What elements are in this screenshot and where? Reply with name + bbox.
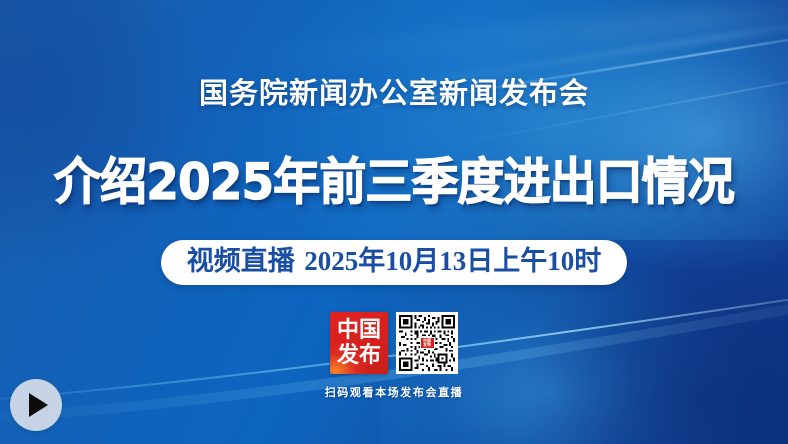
play-button[interactable] xyxy=(10,379,62,431)
qr-code-icon[interactable]: 中国 发布 xyxy=(396,312,458,374)
badge-label: 视频直播 xyxy=(187,246,304,277)
play-triangle-icon xyxy=(29,393,48,417)
logo-text-line1: 中国 xyxy=(337,319,381,342)
china-release-logo: 中国 发布 xyxy=(330,312,388,374)
qr-center-line2: 发布 xyxy=(423,343,431,347)
qr-center-logo: 中国 发布 xyxy=(420,337,435,349)
live-stream-poster: 国务院新闻办公室新闻发布会 介绍2025年前三季度进出口情况 视频直播 2025… xyxy=(0,0,788,444)
qr-caption: 扫码观看本场发布会直播 xyxy=(0,384,788,400)
press-conference-subtitle: 国务院新闻办公室新闻发布会 xyxy=(0,70,788,112)
page-title: 介绍2025年前三季度进出口情况 xyxy=(24,157,765,207)
logo-text-line2: 发布 xyxy=(337,344,381,367)
badge-datetime: 2025年10月13日上午10时 xyxy=(304,246,601,276)
badge-container: 视频直播 2025年10月13日上午10时 xyxy=(0,240,788,285)
status-badge: 视频直播 2025年10月13日上午10时 xyxy=(161,240,627,285)
logo-qr-row: 中国 发布 xyxy=(0,312,788,374)
